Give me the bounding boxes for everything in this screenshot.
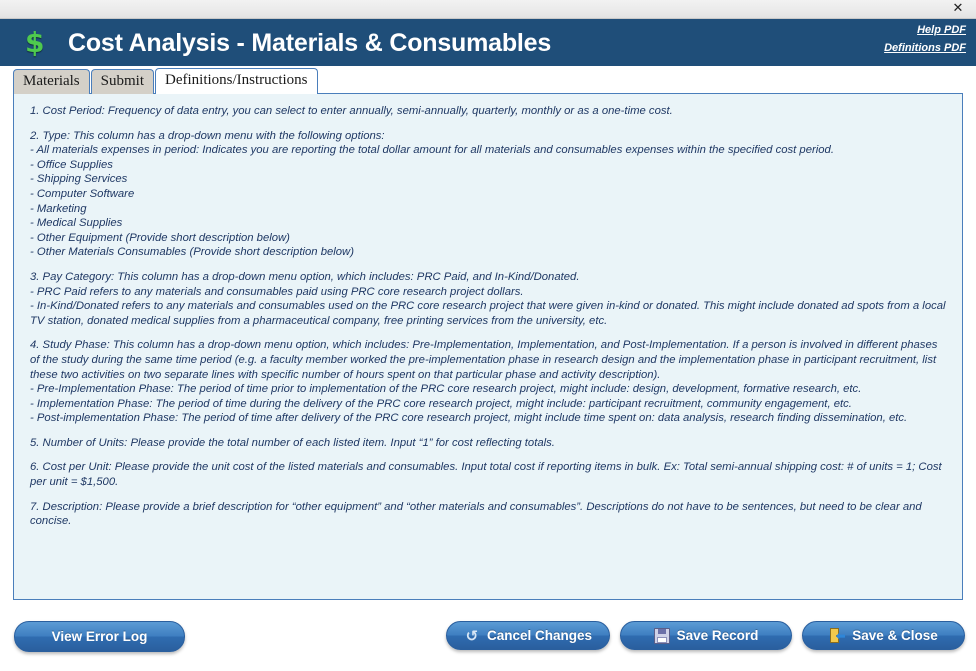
save-and-close-label: Save & Close bbox=[852, 628, 938, 643]
instruction-paragraph-6: 6. Cost per Unit: Please provide the uni… bbox=[30, 460, 948, 489]
tab-materials[interactable]: Materials bbox=[13, 69, 90, 94]
cancel-changes-button[interactable]: ↺ Cancel Changes bbox=[446, 621, 610, 650]
window-title-bar: ✕ bbox=[0, 0, 976, 19]
app-header: $ Cost Analysis - Materials & Consumable… bbox=[0, 19, 976, 66]
instructions-content: 1. Cost Period: Frequency of data entry,… bbox=[14, 94, 962, 549]
money-dollar-icon: $ bbox=[25, 28, 44, 58]
close-icon[interactable]: ✕ bbox=[948, 1, 968, 17]
instruction-paragraph-2: 2. Type: This column has a drop-down men… bbox=[30, 129, 948, 260]
tab-bar: Materials Submit Definitions/Instruction… bbox=[13, 68, 319, 94]
instruction-paragraph-7: 7. Description: Please provide a brief d… bbox=[30, 500, 948, 529]
floppy-disk-icon bbox=[654, 628, 670, 644]
help-pdf-link[interactable]: Help PDF bbox=[884, 23, 966, 38]
tab-definitions-instructions[interactable]: Definitions/Instructions bbox=[155, 68, 318, 94]
save-record-label: Save Record bbox=[677, 628, 759, 643]
instructions-panel: 1. Cost Period: Frequency of data entry,… bbox=[13, 93, 963, 600]
undo-icon: ↺ bbox=[464, 628, 480, 644]
save-and-close-button[interactable]: ⬅ Save & Close bbox=[802, 621, 965, 650]
view-error-log-label: View Error Log bbox=[52, 629, 148, 644]
instruction-paragraph-5: 5. Number of Units: Please provide the t… bbox=[30, 436, 948, 451]
definitions-pdf-link[interactable]: Definitions PDF bbox=[884, 41, 966, 56]
page-title: Cost Analysis - Materials & Consumables bbox=[68, 29, 551, 58]
door-exit-icon: ⬅ bbox=[829, 628, 845, 644]
view-error-log-button[interactable]: View Error Log bbox=[14, 621, 185, 652]
cancel-changes-label: Cancel Changes bbox=[487, 628, 592, 643]
tab-submit[interactable]: Submit bbox=[91, 69, 154, 94]
instruction-paragraph-1: 1. Cost Period: Frequency of data entry,… bbox=[30, 104, 948, 119]
save-record-button[interactable]: Save Record bbox=[620, 621, 792, 650]
header-links: Help PDF Definitions PDF bbox=[884, 23, 966, 59]
instruction-paragraph-3: 3. Pay Category: This column has a drop-… bbox=[30, 270, 948, 328]
instruction-paragraph-4: 4. Study Phase: This column has a drop-d… bbox=[30, 338, 948, 426]
